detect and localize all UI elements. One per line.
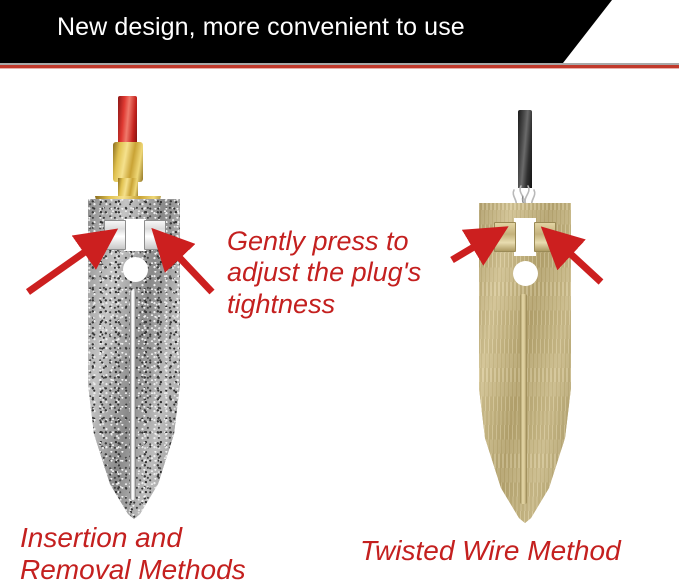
silver-blade-hole bbox=[123, 257, 148, 282]
crimp-barrel bbox=[113, 142, 143, 182]
silver-press-tab-left[interactable] bbox=[104, 220, 126, 250]
silver-tab-gap bbox=[124, 219, 146, 251]
infographic-page: New design, more convenient to use bbox=[0, 0, 679, 588]
red-wire bbox=[118, 96, 137, 148]
black-wire bbox=[518, 110, 532, 188]
caption-right-figure: Twisted Wire Method bbox=[360, 535, 621, 567]
brass-press-tab-right[interactable] bbox=[534, 222, 556, 252]
silver-press-tab-right[interactable] bbox=[144, 220, 166, 250]
divider-red-thin bbox=[0, 68, 679, 69]
caption-left-figure: Insertion and Removal Methods bbox=[20, 522, 246, 587]
brass-blade-hole bbox=[513, 261, 538, 286]
brass-press-tab-left[interactable] bbox=[494, 222, 516, 252]
press-instruction-note: Gently press to adjust the plug's tightn… bbox=[227, 226, 421, 320]
brass-blade-slot bbox=[520, 294, 527, 504]
banner-title: New design, more convenient to use bbox=[57, 13, 465, 42]
silver-blade-slot bbox=[130, 290, 136, 500]
brass-tab-gap bbox=[514, 218, 536, 256]
